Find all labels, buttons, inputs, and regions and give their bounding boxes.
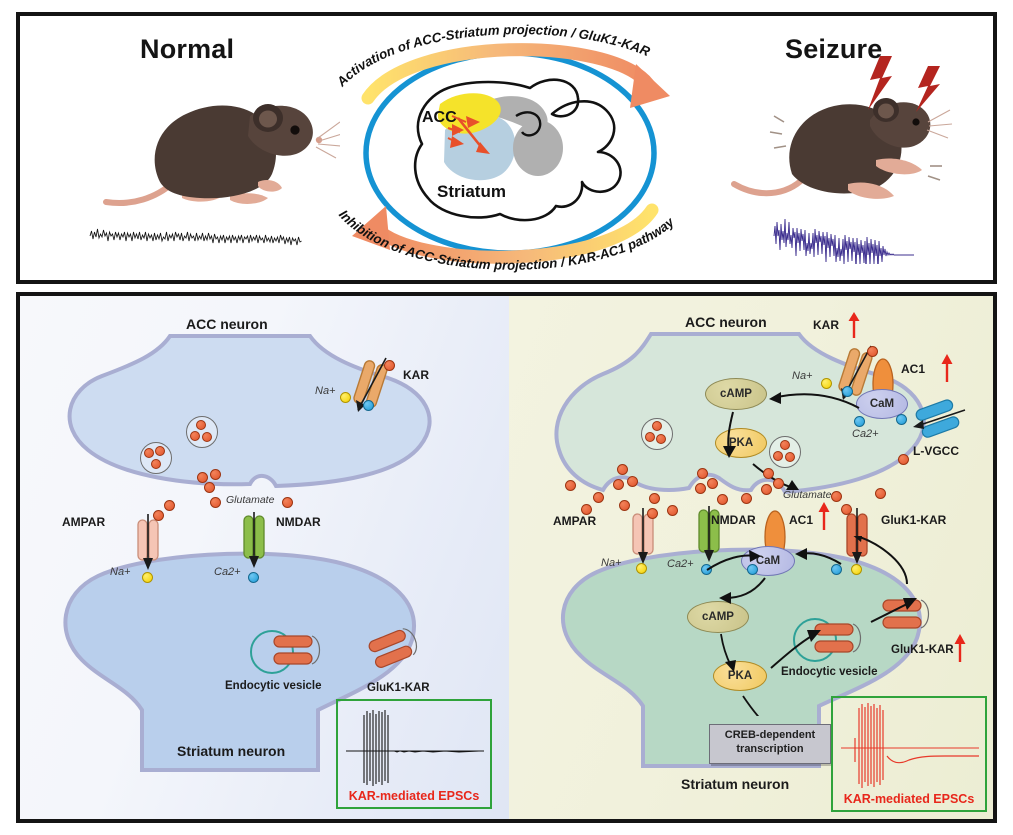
glutamate-dot [204,482,215,493]
bottom-panel-left-normal: ACC neuron Na+ KAR [20,296,509,819]
svg-text:Activation of ACC-Striatum pro: Activation of ACC-Striatum projection / … [333,22,653,90]
eeg-trace-seizure [772,208,994,264]
glutamate-dot [875,488,886,499]
ampar-label-right: AMPAR [553,514,596,528]
endocytic-vesicle-left [246,626,326,678]
postsynaptic-signalling-arrows-right [659,536,939,716]
glutamate-dot [695,483,706,494]
gluk1-kar-label-left: GluK1-KAR [367,682,430,694]
glutamate-dot [667,505,678,516]
glutamate-dot [741,493,752,504]
na-label-presyn-left: Na+ [315,385,336,397]
glutamate-dot [627,476,638,487]
glutamate-dot [697,468,708,479]
bottom-panel-right-seizure: ACC neuron KAR Na+ [509,296,993,819]
ac1-label-postsyn-right: AC1 [789,513,813,527]
na-label-postsyn-left: Na+ [110,566,131,578]
gluk1-kar-label-membrane-right: GluK1-KAR [881,513,946,527]
glutamate-dot [164,500,175,511]
glutamate-dot [593,492,604,503]
ac1-upregulated-arrow-icon [940,354,954,382]
nmdar-label-right: NMDAR [711,513,756,527]
kar-label-left: KAR [403,368,429,382]
glutamate-dot [210,469,221,480]
glutamate-dot [647,508,658,519]
nmdar-receptor-left [232,512,276,570]
striatum-neuron-label-right: Striatum neuron [681,776,789,792]
glutamate-label-right: Glutamate [783,489,831,501]
svg-text:Inhibition of ACC-Striatum pro: Inhibition of ACC-Striatum projection / … [336,207,677,273]
ac1-postsyn-upregulated-arrow-icon [817,502,831,530]
kar-upregulated-arrow-icon [847,312,861,338]
sodium-ion-dot [142,572,153,583]
activation-label: Activation of ACC-Striatum projection / … [328,20,688,140]
brain-cycle-diagram: ACC Striatum Activation of ACC-Striatum … [330,22,690,284]
creb-transcription-box: CREB-dependent transcription [709,724,831,764]
glutamate-dot [197,472,208,483]
bottom-panel: ACC neuron Na+ KAR [16,292,997,823]
glutamate-dot [649,493,660,504]
figure-root: Normal Seizure [0,0,1013,835]
acc-neuron-label-left: ACC neuron [186,316,268,332]
mouse-normal-illustration [90,78,340,218]
synaptic-vesicle [769,436,801,468]
synaptic-vesicle [641,418,673,450]
glutamate-dot [384,360,395,371]
creb-line-2: transcription [736,743,803,755]
glutamate-dot [761,484,772,495]
glutamate-dot [841,504,852,515]
glutamate-dot [773,478,784,489]
presynaptic-signalling-arrows-right [689,366,939,496]
epsc-inset-right: KAR-mediated EPSCs [831,696,987,812]
ampar-receptor-left [126,514,170,572]
ampar-label-left: AMPAR [62,515,105,529]
glutamate-dot [831,491,842,502]
glutamate-dot [717,494,728,505]
inhibition-label: Inhibition of ACC-Striatum projection / … [328,168,688,288]
seizure-bolt-icon [858,54,968,114]
synaptic-vesicle [186,416,218,448]
glutamate-dot [617,464,628,475]
glutamate-dot [565,480,576,491]
calcium-ion-dot [248,572,259,583]
glutamate-dot [153,510,164,521]
top-panel: Normal Seizure [16,12,997,284]
striatum-neuron-label-left: Striatum neuron [177,743,285,759]
ca-label-postsyn-left: Ca2+ [214,566,241,578]
calcium-ion-dot [363,400,374,411]
na-label-postsyn-right: Na+ [601,557,622,569]
endocytic-vesicle-label-left: Endocytic vesicle [225,680,322,692]
creb-line-1: CREB-dependent [725,729,815,741]
eeg-trace-normal [86,216,316,256]
epsc-caption-right: KAR-mediated EPSCs [833,792,985,806]
kar-label-right: KAR [813,318,839,332]
glutamate-dot [210,497,221,508]
nmdar-label-left: NMDAR [276,515,321,529]
gluk1-kar-upregulated-arrow-icon [953,634,967,662]
synaptic-vesicle [140,442,172,474]
glutamate-dot [707,478,718,489]
glutamate-dot [613,479,624,490]
glutamate-label-left: Glutamate [226,494,274,506]
sodium-ion-dot [340,392,351,403]
sodium-ion-dot [636,563,647,574]
page-title-normal: Normal [140,34,234,65]
acc-neuron-label-right: ACC neuron [685,314,767,330]
glutamate-dot [898,454,909,465]
epsc-caption-left: KAR-mediated EPSCs [338,789,490,803]
glutamate-dot [763,468,774,479]
epsc-inset-left: KAR-mediated EPSCs [336,699,492,809]
glutamate-dot [282,497,293,508]
gluk1-kar-internal-left [366,622,420,678]
